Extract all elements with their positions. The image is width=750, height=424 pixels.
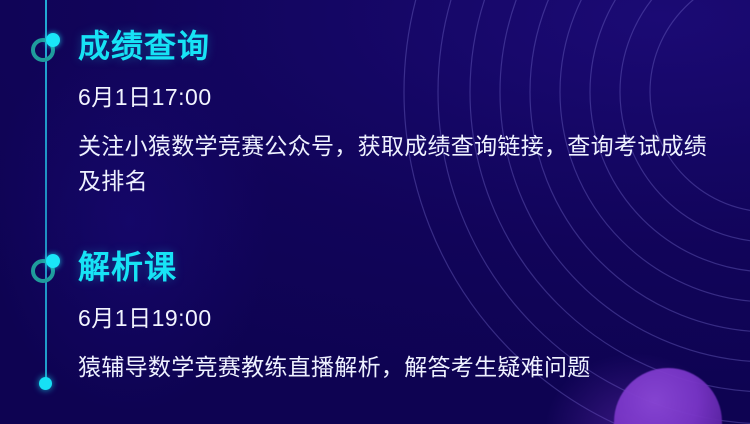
ring-dot-icon [30,254,61,285]
entry-description: 关注小猿数学竞赛公众号，获取成绩查询链接，查询考试成绩及排名 [78,109,750,199]
ring-icon-dot [46,254,60,268]
timeline-entry: 解析课 6月1日19:00 猿辅导数学竞赛教练直播解析，解答考生疑难问题 [0,243,750,385]
entry-title: 解析课 [78,243,750,283]
entry-description: 猿辅导数学竞赛教练直播解析，解答考生疑难问题 [78,330,750,385]
ring-icon-dot [46,33,60,47]
timeline-entry-body: 解析课 6月1日19:00 猿辅导数学竞赛教练直播解析，解答考生疑难问题 [78,243,750,385]
timeline-entry-body: 成绩查询 6月1日17:00 关注小猿数学竞赛公众号，获取成绩查询链接，查询考试… [78,22,750,199]
timeline-entry: 成绩查询 6月1日17:00 关注小猿数学竞赛公众号，获取成绩查询链接，查询考试… [0,22,750,199]
entry-title: 成绩查询 [78,22,750,62]
entry-time: 6月1日17:00 [78,62,750,109]
poster-canvas: 成绩查询 6月1日17:00 关注小猿数学竞赛公众号，获取成绩查询链接，查询考试… [0,0,750,424]
entry-time: 6月1日19:00 [78,283,750,330]
ring-dot-icon [30,33,61,64]
